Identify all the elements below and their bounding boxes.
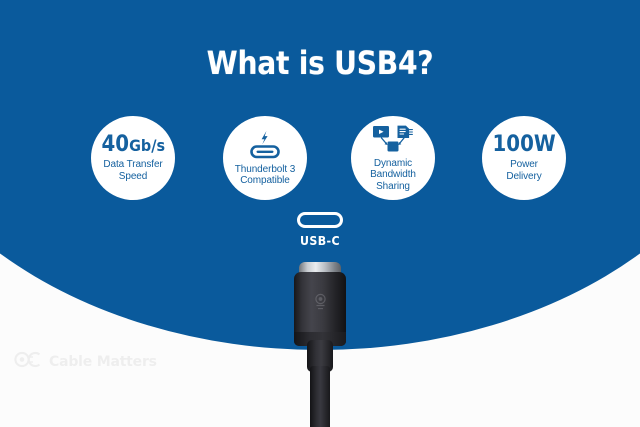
usb-c-cable	[310, 366, 330, 427]
page-title: What is USB4?	[38, 44, 601, 82]
feature-headline: 40Gb/s	[101, 134, 165, 156]
feature-caption: Data Transfer Speed	[103, 159, 162, 182]
feature-circle-data-transfer-speed: 40Gb/s Data Transfer Speed	[91, 116, 175, 200]
feature-circle-list: 40Gb/s Data Transfer Speed Thunderbolt 3…	[0, 116, 640, 206]
infographic-canvas: What is USB4? 40Gb/s Data Transfer Speed…	[0, 0, 640, 427]
feature-circle-dynamic-bandwidth-sharing: Dynamic Bandwidth Sharing	[351, 116, 435, 200]
watermark-brand-text: Cable Matters	[49, 354, 157, 370]
thunderbolt-usbc-port-icon	[245, 130, 285, 160]
feature-headline-unit: W	[534, 132, 556, 157]
connector-brand-emboss-icon	[313, 293, 328, 312]
feature-circle-power-delivery: 100W Power Delivery	[482, 116, 566, 200]
video-document-share-icon	[371, 124, 415, 154]
feature-headline: 100W	[492, 134, 555, 156]
feature-headline-number: 40	[101, 132, 129, 157]
feature-caption: Dynamic Bandwidth Sharing	[370, 158, 416, 193]
feature-circle-thunderbolt-3-compatible: Thunderbolt 3 Compatible	[223, 116, 307, 200]
watermark: Cable Matters	[14, 351, 157, 373]
cable-matters-logo-icon	[14, 351, 44, 373]
feature-caption: Power Delivery	[506, 159, 541, 182]
usb-c-port-label: USB-C	[26, 234, 615, 248]
usb-c-port-outline-icon	[297, 212, 343, 228]
feature-headline-unit: Gb/s	[129, 136, 165, 155]
feature-caption: Thunderbolt 3 Compatible	[235, 164, 295, 187]
feature-headline-number: 100	[492, 132, 533, 157]
